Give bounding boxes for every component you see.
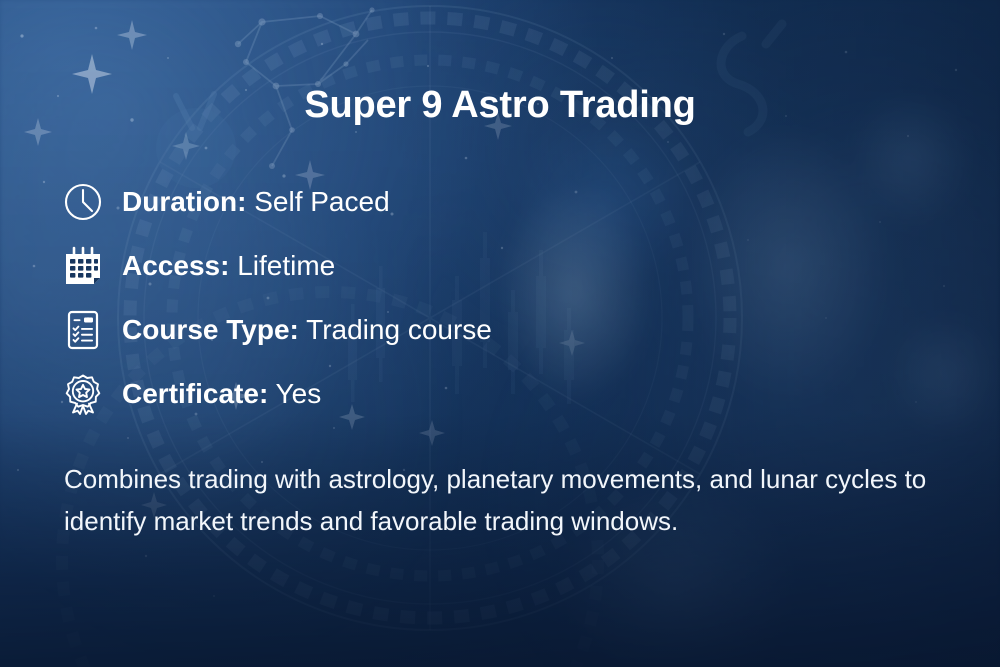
- page-title: Super 9 Astro Trading: [0, 84, 1000, 127]
- checklist-icon: [58, 305, 108, 355]
- spec-row-duration: Duration: Self Paced: [58, 170, 918, 234]
- spec-text-certificate: Certificate: Yes: [122, 380, 321, 408]
- spec-row-certificate: Certificate: Yes: [58, 362, 918, 426]
- course-spec-list: Duration: Self Paced: [58, 170, 918, 426]
- spec-value-course-type: Trading course: [306, 314, 492, 345]
- course-info-card: Super 9 Astro Trading Duration: Self Pac…: [0, 0, 1000, 667]
- spec-text-access: Access: Lifetime: [122, 252, 335, 280]
- spec-row-access: Access: Lifetime: [58, 234, 918, 298]
- spec-label-duration: Duration:: [122, 186, 246, 217]
- spec-row-course-type: Course Type: Trading course: [58, 298, 918, 362]
- spec-value-certificate: Yes: [276, 378, 322, 409]
- calendar-icon: [58, 241, 108, 291]
- spec-text-duration: Duration: Self Paced: [122, 188, 390, 216]
- spec-label-course-type: Course Type:: [122, 314, 299, 345]
- spec-label-certificate: Certificate:: [122, 378, 268, 409]
- clock-icon: [58, 177, 108, 227]
- spec-value-access: Lifetime: [237, 250, 335, 281]
- award-icon: [58, 369, 108, 419]
- spec-text-course-type: Course Type: Trading course: [122, 316, 492, 344]
- spec-value-duration: Self Paced: [254, 186, 389, 217]
- spec-label-access: Access:: [122, 250, 229, 281]
- course-description: Combines trading with astrology, planeta…: [64, 458, 944, 542]
